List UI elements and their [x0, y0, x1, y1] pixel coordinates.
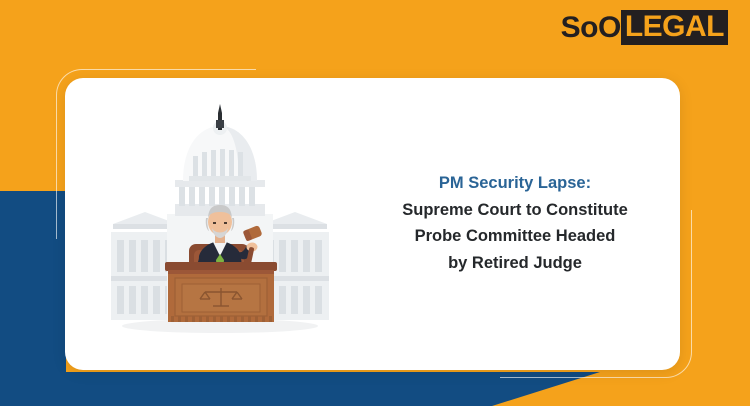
- headline: PM Security Lapse: Supreme Court to Cons…: [365, 170, 665, 277]
- wooden-podium: [165, 262, 277, 322]
- content-card: PM Security Lapse: Supreme Court to Cons…: [65, 78, 680, 370]
- logo-text-legal: LEGAL: [621, 10, 728, 45]
- capitol-dome: [183, 104, 257, 181]
- logo-text-soo: SoO: [561, 13, 621, 43]
- dome-spire-base: [216, 120, 224, 128]
- headline-line-3: by Retired Judge: [365, 250, 665, 277]
- soolegal-logo[interactable]: SoO LEGAL: [561, 10, 728, 45]
- headline-line-2: Probe Committee Headed: [365, 223, 665, 250]
- headline-accent-line: PM Security Lapse:: [365, 170, 665, 197]
- judge-at-podium-illustration: [105, 104, 335, 339]
- headline-line-1: Supreme Court to Constitute: [365, 197, 665, 224]
